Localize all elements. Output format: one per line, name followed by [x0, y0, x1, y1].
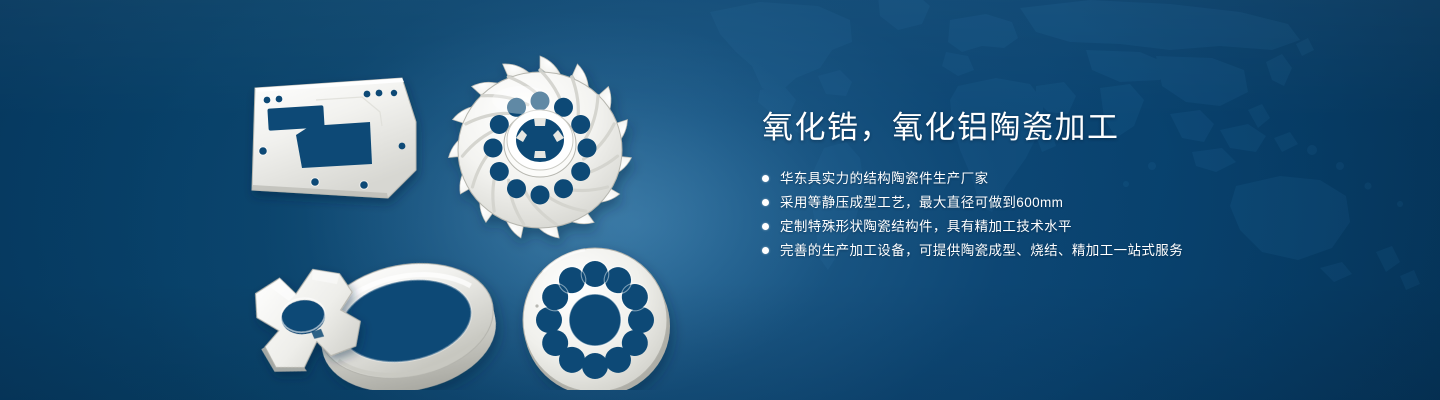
bullet-marker-icon	[762, 247, 769, 254]
ceramic-perforated-disc	[523, 248, 670, 390]
feature-text: 定制特殊形状陶瓷结构件，具有精加工技术水平	[780, 218, 1072, 235]
list-item: 采用等静压成型工艺，最大直径可做到600mm	[762, 194, 1382, 211]
bullet-marker-icon	[762, 175, 769, 182]
banner-text-block: 氧化锆，氧化铝陶瓷加工 华东具实力的结构陶瓷件生产厂家 采用等静压成型工艺，最大…	[762, 108, 1382, 266]
feature-list: 华东具实力的结构陶瓷件生产厂家 采用等静压成型工艺，最大直径可做到600mm 定…	[762, 170, 1382, 259]
page-title: 氧化锆，氧化铝陶瓷加工	[762, 108, 1382, 148]
bullet-marker-icon	[762, 199, 769, 206]
hero-banner: 氧化锆，氧化铝陶瓷加工 华东具实力的结构陶瓷件生产厂家 采用等静压成型工艺，最大…	[0, 0, 1440, 400]
list-item: 完善的生产加工设备，可提供陶瓷成型、烧结、精加工一站式服务	[762, 242, 1382, 259]
list-item: 华东具实力的结构陶瓷件生产厂家	[762, 170, 1382, 187]
feature-text: 采用等静压成型工艺，最大直径可做到600mm	[780, 194, 1063, 211]
list-item: 定制特殊形状陶瓷结构件，具有精加工技术水平	[762, 218, 1382, 235]
bullet-marker-icon	[762, 223, 769, 230]
feature-text: 完善的生产加工设备，可提供陶瓷成型、烧结、精加工一站式服务	[780, 242, 1183, 259]
feature-text: 华东具实力的结构陶瓷件生产厂家	[780, 170, 989, 187]
product-photo-group	[230, 30, 720, 390]
ceramic-impeller	[446, 55, 635, 243]
ceramic-mounting-plate	[252, 78, 416, 198]
